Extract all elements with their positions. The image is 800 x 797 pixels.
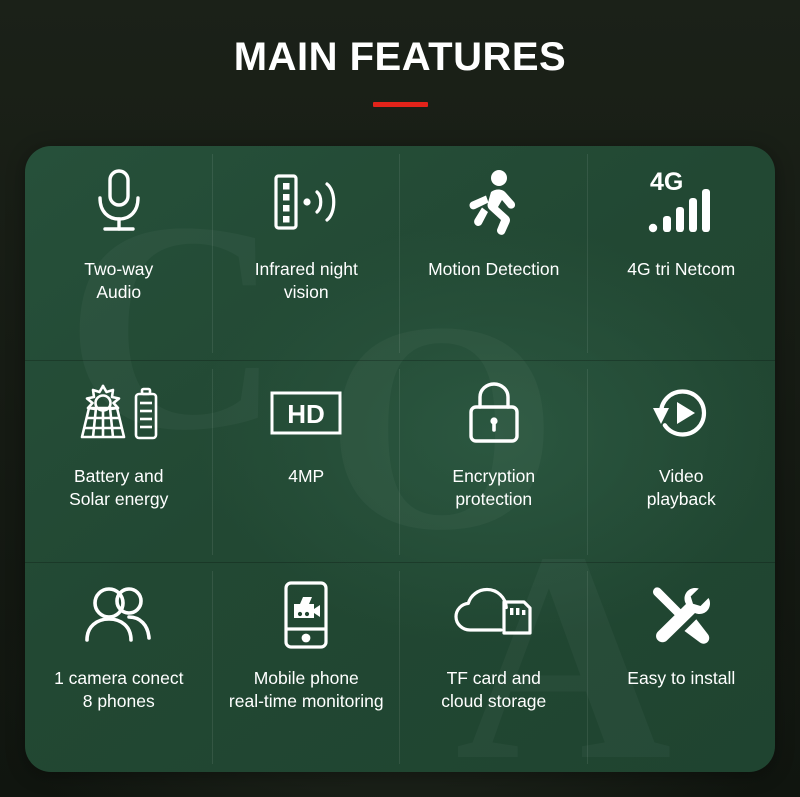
page-title: MAIN FEATURES: [0, 0, 800, 80]
video-replay-icon: [648, 361, 714, 465]
signal-bars-4g-icon: 4G: [644, 146, 718, 258]
feature-label: Motion Detection: [428, 258, 559, 281]
feature-cell-motion-detection[interactable]: Motion Detection: [400, 146, 588, 361]
features-grid: Two-way Audio Infrared night visi: [25, 146, 775, 772]
feature-cell-tf-cloud-storage[interactable]: TF card and cloud storage: [400, 563, 588, 772]
feature-poster: MAIN FEATURES C O A Two-way Audio: [0, 0, 800, 797]
feature-cell-infrared-night-vision[interactable]: Infrared night vision: [213, 146, 401, 361]
feature-cell-video-playback[interactable]: Video playback: [588, 361, 776, 563]
feature-label: Battery and Solar energy: [69, 465, 168, 511]
padlock-icon: [465, 361, 523, 465]
wrench-screwdriver-icon: [648, 563, 714, 667]
feature-label: Video playback: [647, 465, 716, 511]
feature-label: 1 camera conect 8 phones: [54, 667, 183, 713]
poster-header: MAIN FEATURES: [0, 0, 800, 145]
feature-label: TF card and cloud storage: [441, 667, 546, 713]
feature-cell-easy-to-install[interactable]: Easy to install: [588, 563, 776, 772]
feature-label: Mobile phone real-time monitoring: [229, 667, 384, 713]
signal-badge-text: 4G: [650, 168, 683, 196]
feature-label: 4G tri Netcom: [627, 258, 735, 281]
phone-camera-icon: [280, 563, 332, 667]
two-people-icon: [81, 563, 157, 667]
infrared-sensor-icon: [269, 146, 343, 258]
feature-label: 4MP: [288, 465, 324, 488]
feature-cell-mobile-monitoring[interactable]: Mobile phone real-time monitoring: [213, 563, 401, 772]
solar-battery-icon: [73, 361, 165, 465]
feature-label: Encryption protection: [452, 465, 535, 511]
feature-cell-battery-solar[interactable]: Battery and Solar energy: [25, 361, 213, 563]
feature-label: Infrared night vision: [255, 258, 358, 304]
cloud-sdcard-icon: [453, 563, 535, 667]
feature-label: Two-way Audio: [84, 258, 153, 304]
feature-cell-4mp[interactable]: HD 4MP: [213, 361, 401, 563]
feature-label: Easy to install: [627, 667, 735, 690]
feature-cell-camera-connect-phones[interactable]: 1 camera conect 8 phones: [25, 563, 213, 772]
title-underline-accent: [373, 102, 428, 107]
feature-cell-encryption-protection[interactable]: Encryption protection: [400, 361, 588, 563]
running-person-icon: [461, 146, 527, 258]
feature-cell-two-way-audio[interactable]: Two-way Audio: [25, 146, 213, 361]
hd-badge-text: HD: [287, 399, 325, 429]
features-panel: C O A Two-way Audio: [25, 146, 775, 772]
feature-cell-4g-tri-netcom[interactable]: 4G 4G tri Netcom: [588, 146, 776, 361]
microphone-icon: [91, 146, 147, 258]
hd-badge-icon: HD: [270, 361, 342, 465]
